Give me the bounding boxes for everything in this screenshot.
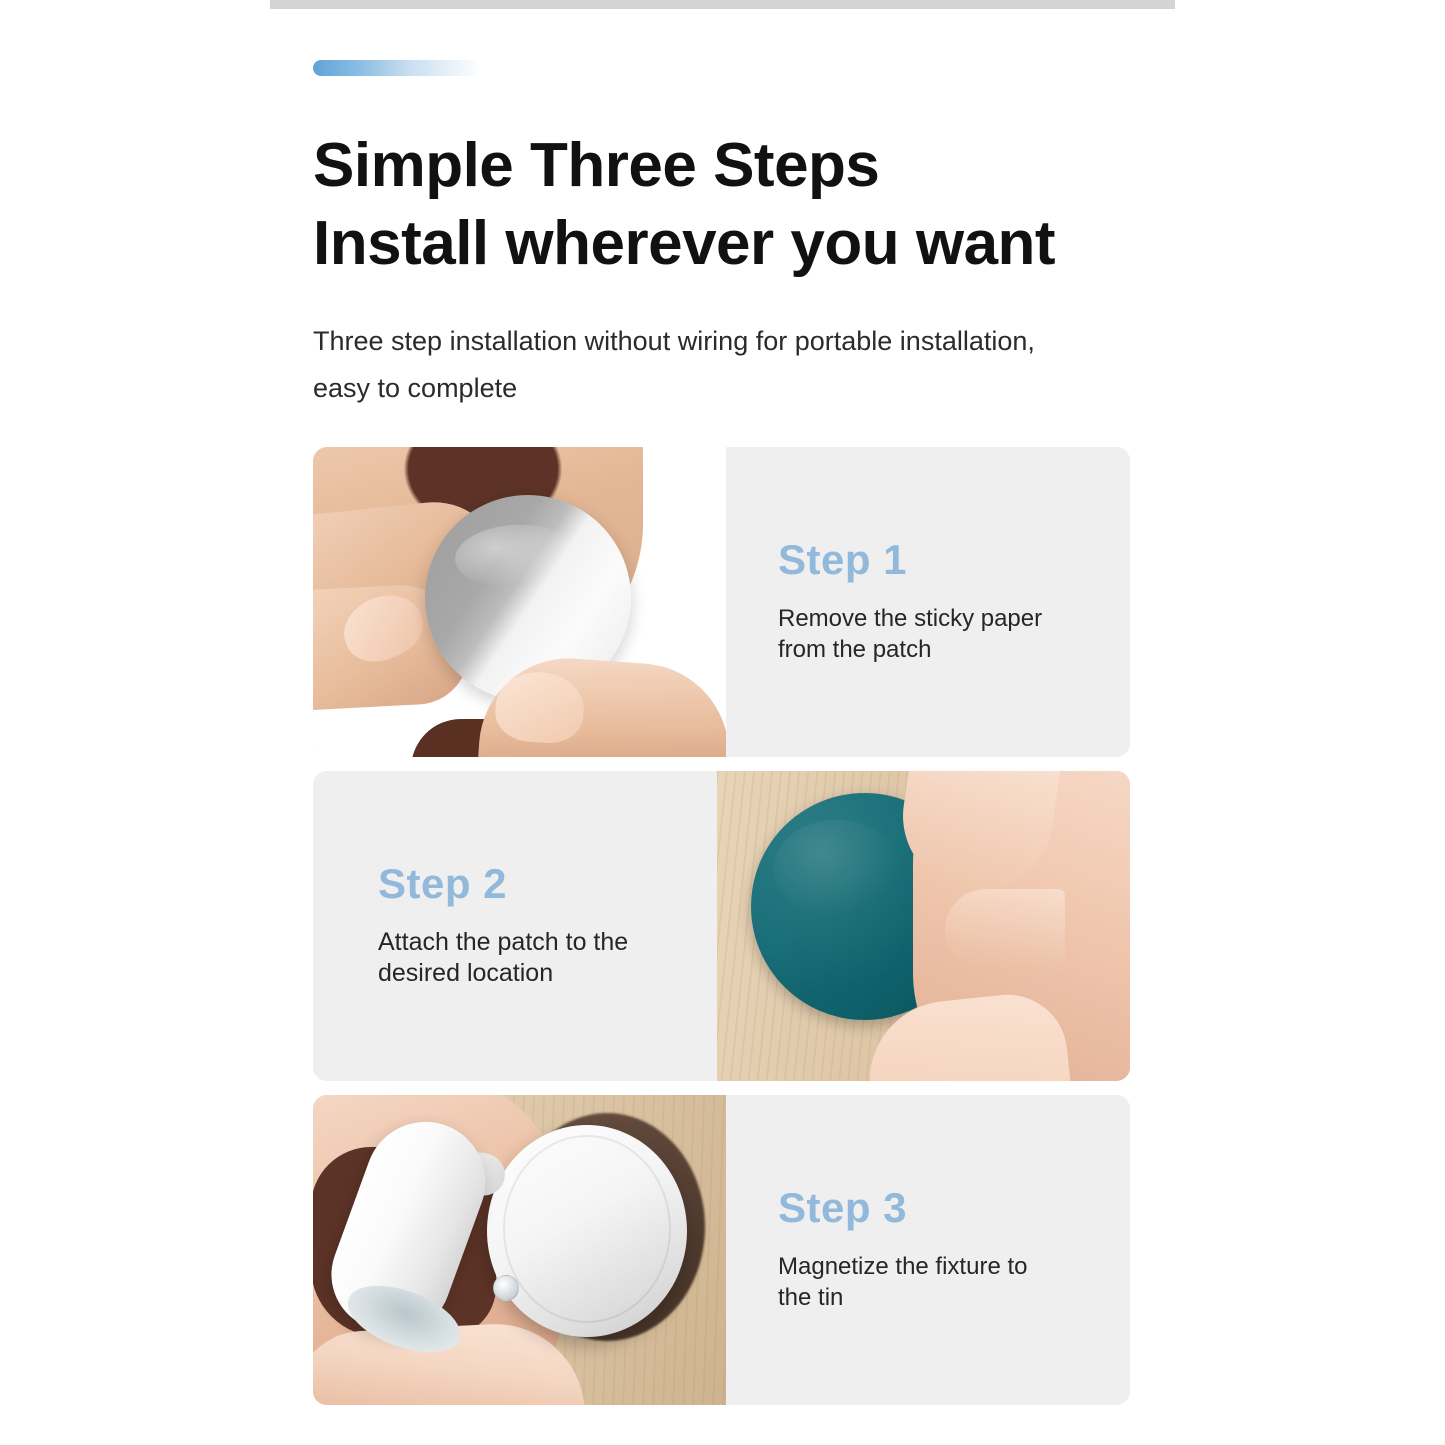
step-card-2: Step 2 Attach the patch to the desired l… bbox=[313, 771, 1130, 1081]
subtitle-line-2: easy to complete bbox=[313, 365, 1123, 412]
step-1-panel: Step 1 Remove the sticky paper from the … bbox=[726, 447, 1130, 757]
step-2-description-line-2: desired location bbox=[378, 959, 553, 987]
page-title: Simple Three Steps Install wherever you … bbox=[313, 127, 1133, 283]
step-card-3: Step 3 Magnetize the fixture to the tin bbox=[313, 1095, 1130, 1405]
step-2-panel: Step 2 Attach the patch to the desired l… bbox=[313, 771, 717, 1081]
page-subtitle: Three step installation without wiring f… bbox=[313, 318, 1123, 412]
top-gray-strip bbox=[270, 0, 1175, 9]
steps-list: Step 1 Remove the sticky paper from the … bbox=[313, 447, 1130, 1419]
step-3-panel: Step 3 Magnetize the fixture to the tin bbox=[726, 1095, 1130, 1405]
step-2-description: Attach the patch to the desired location bbox=[378, 927, 678, 989]
step-1-description-line-1: Remove the sticky paper bbox=[778, 605, 1042, 632]
title-line-2: Install wherever you want bbox=[313, 205, 1133, 283]
subtitle-line-1: Three step installation without wiring f… bbox=[313, 318, 1123, 365]
step-card-1: Step 1 Remove the sticky paper from the … bbox=[313, 447, 1130, 757]
step-3-image bbox=[313, 1095, 726, 1405]
step-2-image bbox=[717, 771, 1130, 1081]
accent-pill-bar bbox=[313, 60, 481, 76]
promo-page: Simple Three Steps Install wherever you … bbox=[0, 0, 1445, 1445]
step-2-label: Step 2 bbox=[378, 863, 717, 905]
base-ring-illustration bbox=[503, 1135, 671, 1323]
step-1-image bbox=[313, 447, 726, 757]
step-3-description: Magnetize the fixture to the tin bbox=[778, 1251, 1078, 1313]
power-button-illustration bbox=[493, 1275, 519, 1301]
step-2-description-line-1: Attach the patch to the bbox=[378, 928, 628, 956]
step-1-label: Step 1 bbox=[778, 539, 1130, 581]
step-3-description-line-2: the tin bbox=[778, 1284, 843, 1311]
finger-illustration bbox=[945, 889, 1065, 971]
step-1-description-line-2: from the patch bbox=[778, 636, 931, 663]
step-1-description: Remove the sticky paper from the patch bbox=[778, 603, 1088, 665]
step-3-label: Step 3 bbox=[778, 1187, 1130, 1229]
title-line-1: Simple Three Steps bbox=[313, 127, 1133, 205]
step-3-description-line-1: Magnetize the fixture to bbox=[778, 1253, 1027, 1280]
